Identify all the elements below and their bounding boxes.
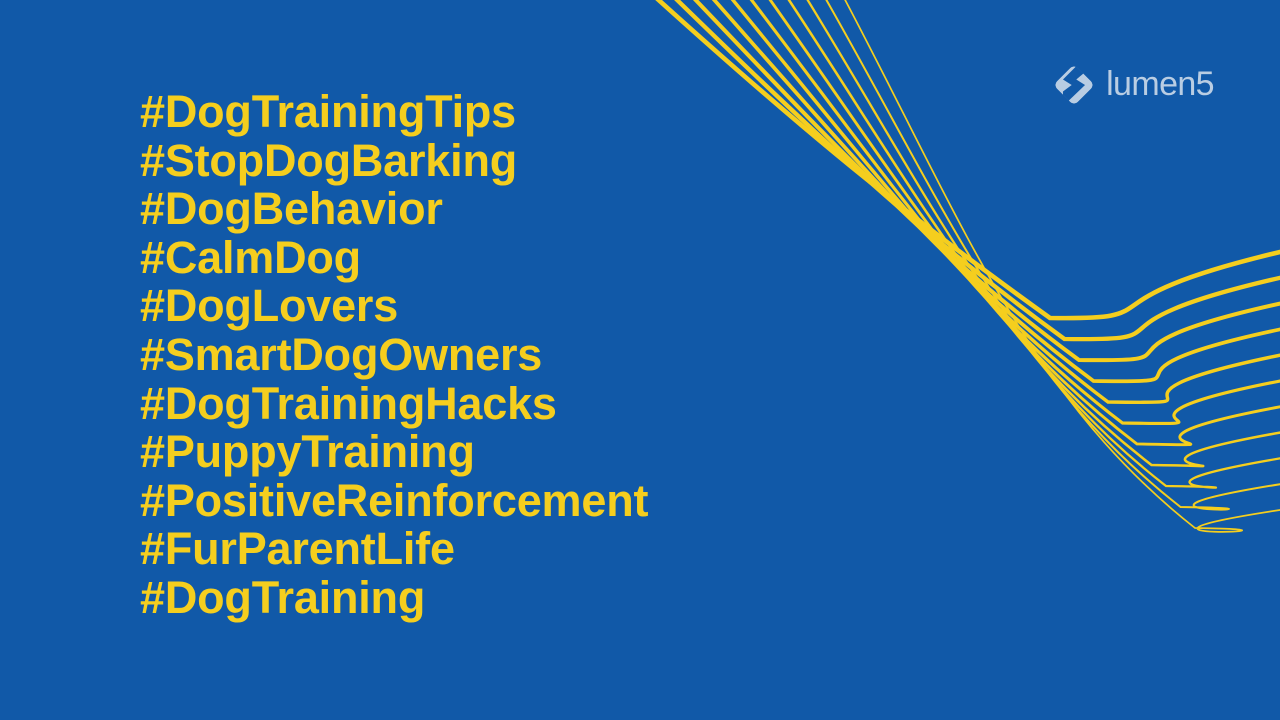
- hashtag-item: #DogTrainingTips: [140, 88, 700, 137]
- wave-line: [652, 0, 1280, 318]
- lumen5-diamond-bolt-icon: [1051, 62, 1097, 108]
- hashtag-item: #FurParentLife: [140, 525, 700, 574]
- slide-canvas: #DogTrainingTips#StopDogBarking#DogBehav…: [0, 0, 1280, 720]
- hashtag-item: #PositiveReinforcement: [140, 477, 700, 526]
- hashtag-item: #StopDogBarking: [140, 137, 700, 186]
- hashtag-item: #PuppyTraining: [140, 428, 700, 477]
- hashtag-list: #DogTrainingTips#StopDogBarking#DogBehav…: [140, 88, 700, 623]
- hashtag-item: #DogTrainingHacks: [140, 380, 700, 429]
- wave-line: [690, 0, 1280, 360]
- hashtag-item: #CalmDog: [140, 234, 700, 283]
- wave-line: [709, 0, 1280, 381]
- brand-logo: lumen5: [1051, 62, 1214, 108]
- wave-line: [671, 0, 1280, 339]
- hashtag-item: #DogTraining: [140, 574, 700, 623]
- hashtag-item: #SmartDogOwners: [140, 331, 700, 380]
- wave-line: [728, 0, 1280, 402]
- hashtag-item: #DogLovers: [140, 282, 700, 331]
- brand-wordmark: lumen5: [1106, 67, 1214, 103]
- hashtag-item: #DogBehavior: [140, 185, 700, 234]
